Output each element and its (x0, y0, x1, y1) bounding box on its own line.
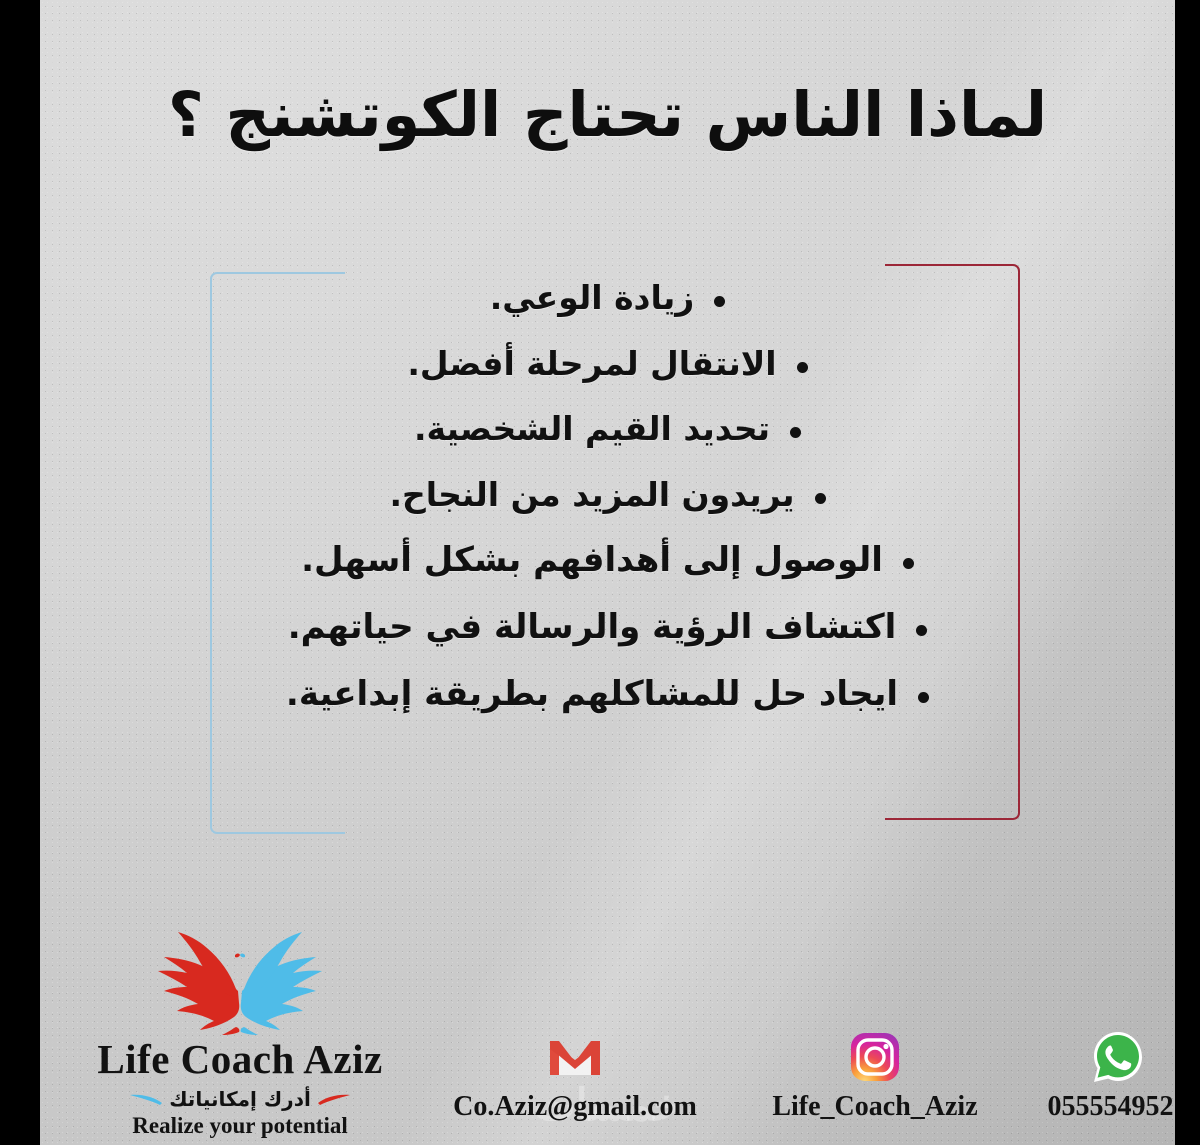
swoosh-blue-icon (129, 1093, 163, 1106)
list-item-label: تحديد القيم الشخصية. (414, 407, 770, 451)
brand-block: Life Coach Aziz أدرك إمكانياتك Realize y… (75, 929, 405, 1139)
bullet-icon (916, 625, 927, 636)
bullet-icon (714, 296, 725, 307)
bullet-icon (790, 427, 801, 438)
brand-tagline-arabic-row: أدرك إمكانياتك (75, 1086, 405, 1112)
swoosh-red-icon (317, 1093, 351, 1106)
bullet-icon (903, 558, 914, 569)
brand-tagline-english: Realize your potential (75, 1113, 405, 1139)
footer: Life Coach Aziz أدرك إمكانياتك Realize y… (40, 895, 1175, 1145)
whatsapp-icon (1015, 1029, 1175, 1085)
contact-whatsapp-value: 0555549527 (1015, 1091, 1175, 1123)
wings-logo-icon (140, 929, 340, 1037)
contact-instagram-value: Life_Coach_Aziz (730, 1091, 1020, 1123)
list-item-label: ايجاد حل للمشاكلهم بطريقة إبداعية. (286, 672, 898, 717)
list-item: زيادة الوعي. (160, 276, 1055, 320)
list-item-label: يريدون المزيد من النجاح. (389, 473, 794, 517)
reasons-list: زيادة الوعي. الانتقال لمرحلة أفضل. تحديد… (40, 276, 1175, 739)
list-item-label: اكتشاف الرؤية والرسالة في حياتهم. (288, 605, 897, 650)
list-item-label: زيادة الوعي. (490, 276, 695, 320)
page-title: لماذا الناس تحتاج الكوتشنج ؟ (40, 78, 1175, 152)
brand-tagline-arabic: أدرك إمكانياتك (169, 1087, 311, 1111)
bullet-icon (815, 493, 826, 504)
contact-email[interactable]: Co.Aziz@gmail.com (415, 1029, 735, 1123)
bullet-icon (797, 362, 808, 373)
brand-name: Life Coach Aziz (75, 1039, 405, 1080)
list-item: ايجاد حل للمشاكلهم بطريقة إبداعية. (160, 672, 1055, 717)
contact-whatsapp[interactable]: 0555549527 (1015, 1029, 1175, 1123)
list-item-label: الوصول إلى أهدافهم بشكل أسهل. (301, 538, 883, 583)
list-item-label: الانتقال لمرحلة أفضل. (407, 342, 776, 386)
bullet-icon (918, 692, 929, 703)
list-item: اكتشاف الرؤية والرسالة في حياتهم. (160, 605, 1055, 650)
gmail-icon (415, 1029, 735, 1085)
instagram-icon (730, 1029, 1020, 1085)
contact-email-value: Co.Aziz@gmail.com (415, 1091, 735, 1123)
contact-instagram[interactable]: Life_Coach_Aziz (730, 1029, 1020, 1123)
list-item: يريدون المزيد من النجاح. (160, 473, 1055, 517)
list-item: الوصول إلى أهدافهم بشكل أسهل. (160, 538, 1055, 583)
poster-canvas: لماذا الناس تحتاج الكوتشنج ؟ زيادة الوعي… (40, 0, 1175, 1145)
list-item: تحديد القيم الشخصية. (160, 407, 1055, 451)
list-item: الانتقال لمرحلة أفضل. (160, 342, 1055, 386)
